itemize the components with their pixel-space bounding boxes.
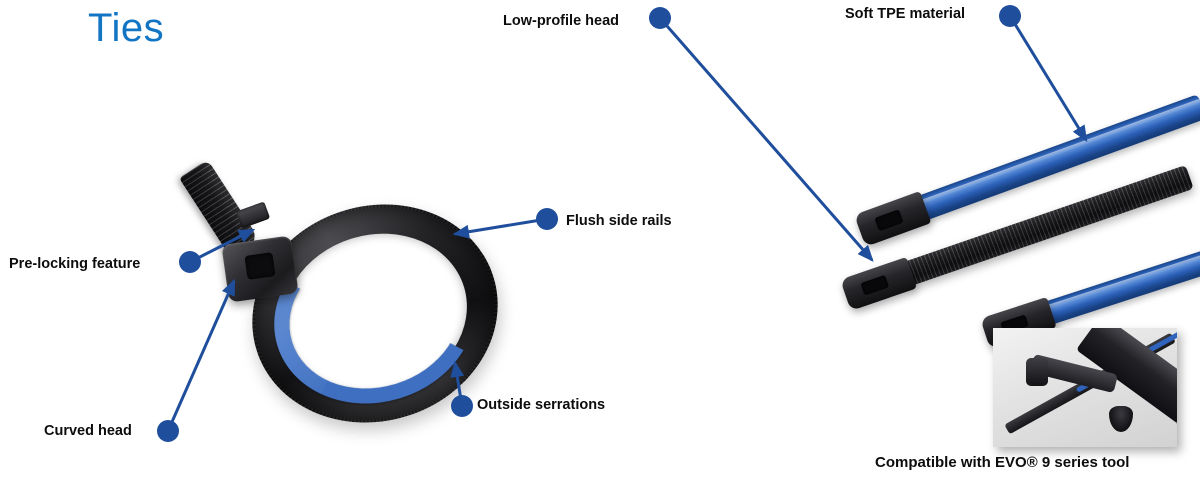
leader-line-soft-tpe-material <box>1010 16 1086 140</box>
callout-dot-curved-head[interactable] <box>157 420 179 442</box>
callout-label-curved-head: Curved head <box>44 424 132 439</box>
callout-label-soft-tpe-material: Soft TPE material <box>845 7 965 22</box>
callout-label-pre-locking-feature: Pre-locking feature <box>9 257 140 272</box>
evo-brand-mark: EVO9 <box>1174 419 1177 447</box>
callout-dot-pre-locking-feature[interactable] <box>179 251 201 273</box>
callout-dot-low-profile-head[interactable] <box>649 7 671 29</box>
tie-head-slot <box>244 252 275 280</box>
page-title: Ties <box>88 6 164 50</box>
looped-tie-photo <box>183 158 513 430</box>
callout-dot-outside-serrations[interactable] <box>451 395 473 417</box>
callout-dot-soft-tpe-material[interactable] <box>999 5 1021 27</box>
evo-tool-jaw <box>1026 358 1048 386</box>
tie-bottom-blue-band <box>1042 247 1200 325</box>
callout-label-low-profile-head: Low-profile head <box>503 14 619 29</box>
callout-label-flush-side-rails: Flush side rails <box>566 214 672 229</box>
slide-canvas: Ties <box>0 0 1200 480</box>
evo-tool-caption: Compatible with EVO® 9 series tool <box>875 454 1129 471</box>
callout-dot-flush-side-rails[interactable] <box>536 208 558 230</box>
evo-tool-photo: EVO9 <box>993 328 1177 447</box>
straight-tie-top <box>916 94 1200 221</box>
straight-tie-bottom <box>1042 247 1200 325</box>
callout-label-outside-serrations: Outside serrations <box>477 398 605 413</box>
tie-pre-locking-tab <box>236 201 270 228</box>
straight-tie-middle-head-group <box>902 263 910 287</box>
leader-line-low-profile-head <box>660 18 872 260</box>
evo-tie-mount <box>1109 406 1133 432</box>
